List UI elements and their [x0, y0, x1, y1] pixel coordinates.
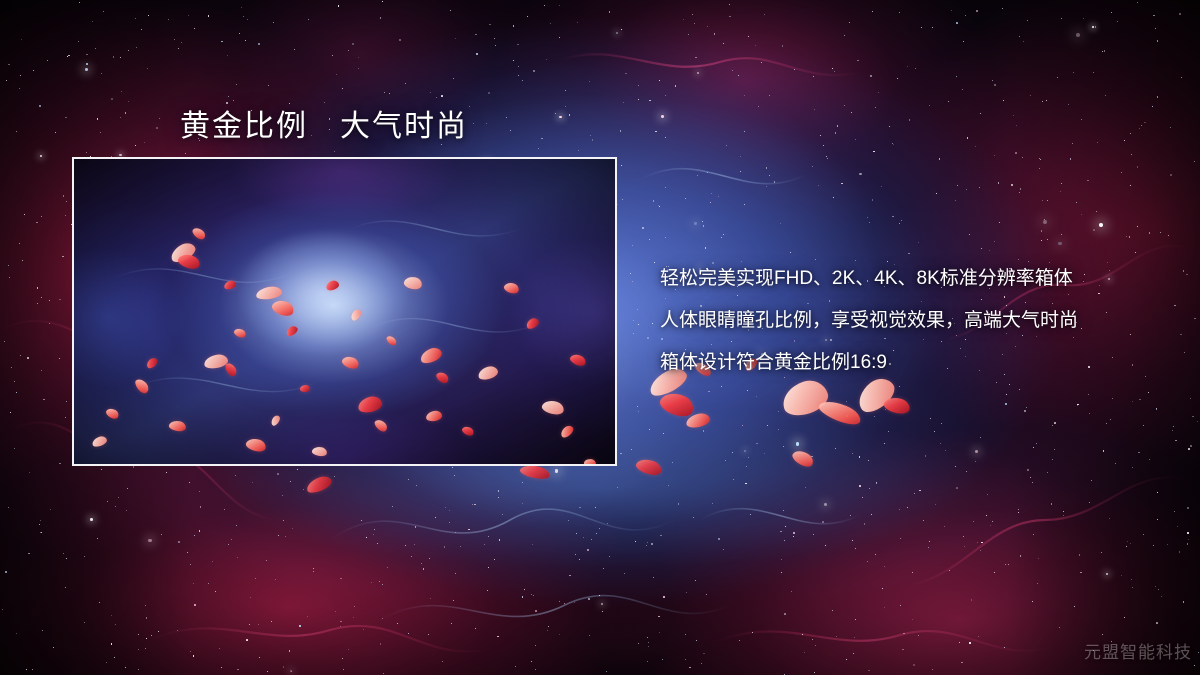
body-line-2: 人体眼睛瞳孔比例，享受视觉效果，高端大气时尚: [660, 300, 1180, 342]
inner-image-vignette: [74, 159, 615, 464]
page-title: 黄金比例 大气时尚: [180, 101, 468, 145]
framed-image-panel[interactable]: [72, 157, 617, 466]
watermark: 元盟智能科技: [1084, 638, 1192, 663]
body-line-1: 轻松完美实现FHD、2K、4K、8K标准分辨率箱体: [660, 258, 1180, 300]
body-text-block: 轻松完美实现FHD、2K、4K、8K标准分辨率箱体 人体眼睛瞳孔比例，享受视觉效…: [660, 258, 1180, 384]
body-line-3: 箱体设计符合黄金比例16:9: [660, 342, 1180, 384]
slide-canvas: 黄金比例 大气时尚 轻松完美实现FHD、2K、4K、8K标准分辨率箱体 人体眼睛…: [0, 0, 1200, 675]
